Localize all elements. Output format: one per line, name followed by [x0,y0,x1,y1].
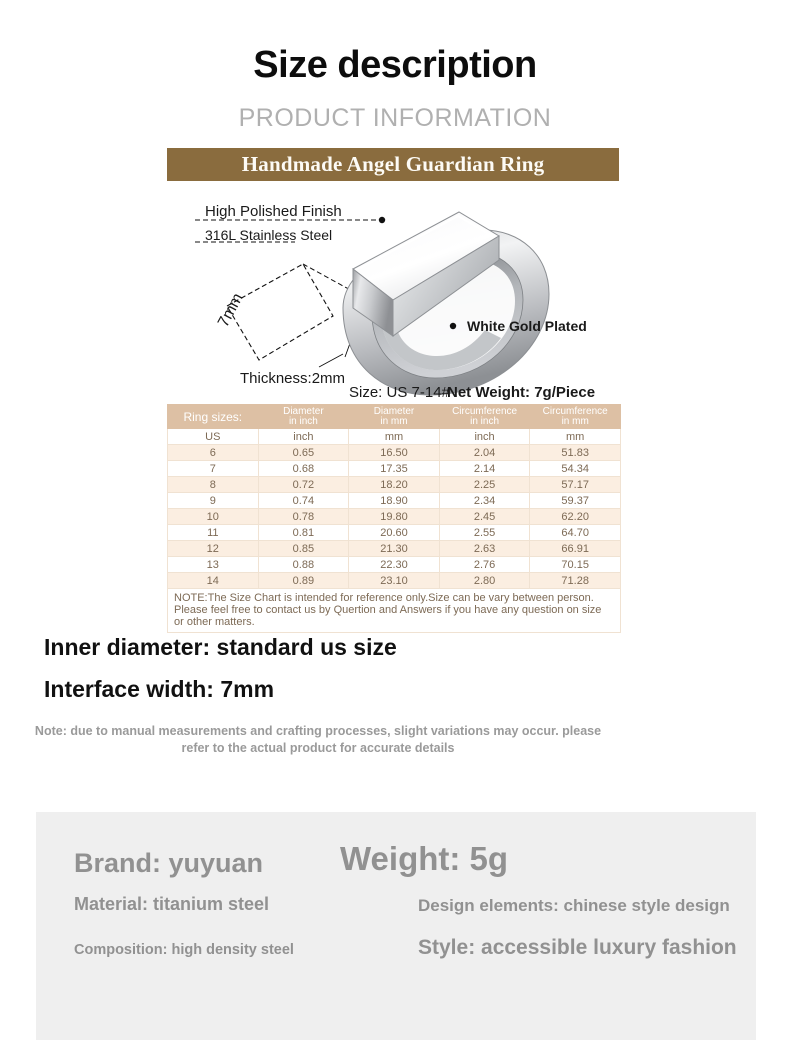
table-row: 60.6516.502.0451.83 [168,445,621,461]
table-cell: 59.37 [530,493,621,509]
table-cell: 19.80 [349,509,440,525]
table-cell: 21.30 [349,541,440,557]
table-cell: 62.20 [530,509,621,525]
table-cell: 0.78 [258,509,349,525]
table-cell: 0.68 [258,461,349,477]
ring-size-table: Ring sizes: Diameter in inch Diameter in… [167,404,621,633]
table-units-row: USinchmminchmm [168,429,621,445]
table-cell: 22.30 [349,557,440,573]
table-cell: 14 [168,573,259,589]
table-cell: US [168,429,259,445]
table-cell: 2.63 [439,541,530,557]
measurement-disclaimer: Note: due to manual measurements and cra… [28,723,608,757]
spec-weight: Weight: 5g [340,840,508,878]
table-row: 110.8120.602.5564.70 [168,525,621,541]
table-cell: 54.34 [530,461,621,477]
table-note-row: NOTE:The Size Chart is intended for refe… [168,589,621,633]
table-cell: 2.76 [439,557,530,573]
spec-brand: Brand: yuyuan [74,848,263,879]
table-cell: 13 [168,557,259,573]
table-header-cell: Circumference in mm [530,405,621,429]
table-cell: 0.89 [258,573,349,589]
table-cell: 12 [168,541,259,557]
table-header-cell: Ring sizes: [168,405,259,429]
product-name-banner: Handmade Angel Guardian Ring [167,148,619,181]
annotation-net-weight: Net Weight: 7g/Piece [447,384,595,401]
table-cell: 0.85 [258,541,349,557]
table-row: 100.7819.802.4562.20 [168,509,621,525]
annotation-high-polished: High Polished Finish [205,203,342,220]
table-cell: 2.55 [439,525,530,541]
spec-design-elements: Design elements: chinese style design [418,896,730,916]
table-header-cell: Circumference in inch [439,405,530,429]
table-row: 80.7218.202.2557.17 [168,477,621,493]
interface-width-statement: Interface width: 7mm [44,676,274,703]
table-cell: 9 [168,493,259,509]
table-cell: 66.91 [530,541,621,557]
table-cell: 0.74 [258,493,349,509]
table-cell: 57.17 [530,477,621,493]
table-cell: 70.15 [530,557,621,573]
specs-panel: Brand: yuyuan Weight: 5g Material: titan… [36,812,756,1040]
table-cell: 8 [168,477,259,493]
table-cell: 0.81 [258,525,349,541]
page-title: Size description [0,44,790,87]
spec-style: Style: accessible luxury fashion [418,936,737,960]
table-cell: 2.04 [439,445,530,461]
table-cell: 0.65 [258,445,349,461]
table-cell: 71.28 [530,573,621,589]
table-row: 140.8923.102.8071.28 [168,573,621,589]
table-cell: 23.10 [349,573,440,589]
table-cell: 16.50 [349,445,440,461]
table-cell: 10 [168,509,259,525]
page-subtitle: PRODUCT INFORMATION [0,104,790,133]
marker-dot-band [450,323,456,329]
table-row: 90.7418.902.3459.37 [168,493,621,509]
table-cell: 20.60 [349,525,440,541]
table-header-cell: Diameter in inch [258,405,349,429]
table-cell: mm [530,429,621,445]
table-cell: inch [258,429,349,445]
width-callout-shape [227,264,333,360]
table-cell: 2.25 [439,477,530,493]
table-cell: 0.72 [258,477,349,493]
marker-dot-top [379,217,385,223]
inner-diameter-statement: Inner diameter: standard us size [44,634,397,661]
annotation-steel-grade: 316L Stainless Steel [205,227,332,243]
spec-material: Material: titanium steel [74,894,269,915]
table-row: 130.8822.302.7670.15 [168,557,621,573]
table-cell: inch [439,429,530,445]
table-cell: 64.70 [530,525,621,541]
table-cell: 2.45 [439,509,530,525]
table-cell: 2.34 [439,493,530,509]
spec-composition: Composition: high density steel [74,942,294,958]
table-cell: 11 [168,525,259,541]
table-header-cell: Diameter in mm [349,405,440,429]
table-note: NOTE:The Size Chart is intended for refe… [168,589,621,633]
table-cell: 0.88 [258,557,349,573]
product-name-label: Handmade Angel Guardian Ring [242,152,545,177]
table-row: 70.6817.352.1454.34 [168,461,621,477]
table-row: 120.8521.302.6366.91 [168,541,621,557]
annotation-size-range: Size: US 7-14# [349,384,450,401]
table-cell: 2.80 [439,573,530,589]
table-cell: 18.90 [349,493,440,509]
table-cell: 6 [168,445,259,461]
table-cell: 7 [168,461,259,477]
table-header-row: Ring sizes: Diameter in inch Diameter in… [168,405,621,429]
table-cell: 2.14 [439,461,530,477]
table-cell: 51.83 [530,445,621,461]
table-cell: 17.35 [349,461,440,477]
ring-diagram: High Polished Finish 316L Stainless Stee… [167,190,627,402]
annotation-thickness: Thickness:2mm [240,370,345,387]
table-cell: 18.20 [349,477,440,493]
table-cell: mm [349,429,440,445]
annotation-plating: White Gold Plated [467,318,587,334]
